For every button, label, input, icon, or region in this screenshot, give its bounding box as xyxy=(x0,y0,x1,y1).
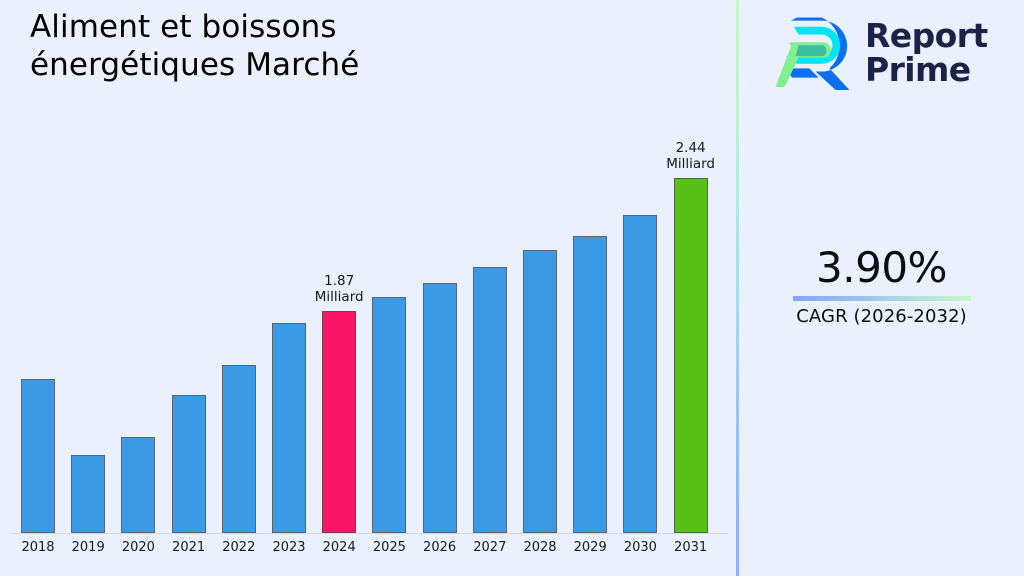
x-tick-2029: 2029 xyxy=(565,540,615,555)
bar-2026[interactable] xyxy=(423,283,457,533)
bar-2023[interactable] xyxy=(272,323,306,533)
x-tick-2025: 2025 xyxy=(364,540,414,555)
x-tick-2020: 2020 xyxy=(113,540,163,555)
bar-2018[interactable] xyxy=(21,379,55,533)
bar-2024[interactable] xyxy=(322,311,356,533)
bar-2029[interactable] xyxy=(573,236,607,533)
screenshot-root: Aliment et boissons énergétiques Marché … xyxy=(0,0,1024,576)
x-tick-2030: 2030 xyxy=(615,540,665,555)
bar-2027[interactable] xyxy=(473,267,507,533)
bar-2019[interactable] xyxy=(71,455,105,533)
report-prime-logo[interactable]: Report Prime xyxy=(775,12,1019,94)
x-tick-2019: 2019 xyxy=(63,540,113,555)
cagr-caption: CAGR (2026-2032) xyxy=(739,306,1024,327)
cagr-block: 3.90% CAGR (2026-2032) xyxy=(739,246,1024,327)
x-axis-line xyxy=(10,533,728,534)
chart-panel: Aliment et boissons énergétiques Marché … xyxy=(0,0,737,576)
bar-2021[interactable] xyxy=(172,395,206,533)
bar-2031[interactable] xyxy=(674,178,708,533)
x-tick-2027: 2027 xyxy=(465,540,515,555)
bar-2020[interactable] xyxy=(121,437,155,533)
x-tick-2024: 2024 xyxy=(314,540,364,555)
bar-value-label-2031: 2.44 Milliard xyxy=(641,140,741,173)
bar-chart-plot-area: 2018201920202021202220231.87 Milliard202… xyxy=(0,0,737,576)
x-tick-2031: 2031 xyxy=(666,540,716,555)
x-tick-2026: 2026 xyxy=(415,540,465,555)
bar-2030[interactable] xyxy=(623,215,657,533)
x-tick-2021: 2021 xyxy=(164,540,214,555)
x-tick-2018: 2018 xyxy=(13,540,63,555)
cagr-value: 3.90% xyxy=(739,246,1024,290)
x-tick-2022: 2022 xyxy=(214,540,264,555)
x-tick-2028: 2028 xyxy=(515,540,565,555)
x-tick-2023: 2023 xyxy=(264,540,314,555)
cagr-divider-rule xyxy=(793,296,971,301)
report-prime-wordmark: Report Prime xyxy=(865,19,988,86)
bar-2022[interactable] xyxy=(222,365,256,533)
bar-2025[interactable] xyxy=(372,297,406,533)
report-prime-logo-icon xyxy=(775,16,853,90)
brand-panel: Report Prime 3.90% CAGR (2026-2032) xyxy=(739,0,1024,576)
bar-2028[interactable] xyxy=(523,250,557,533)
